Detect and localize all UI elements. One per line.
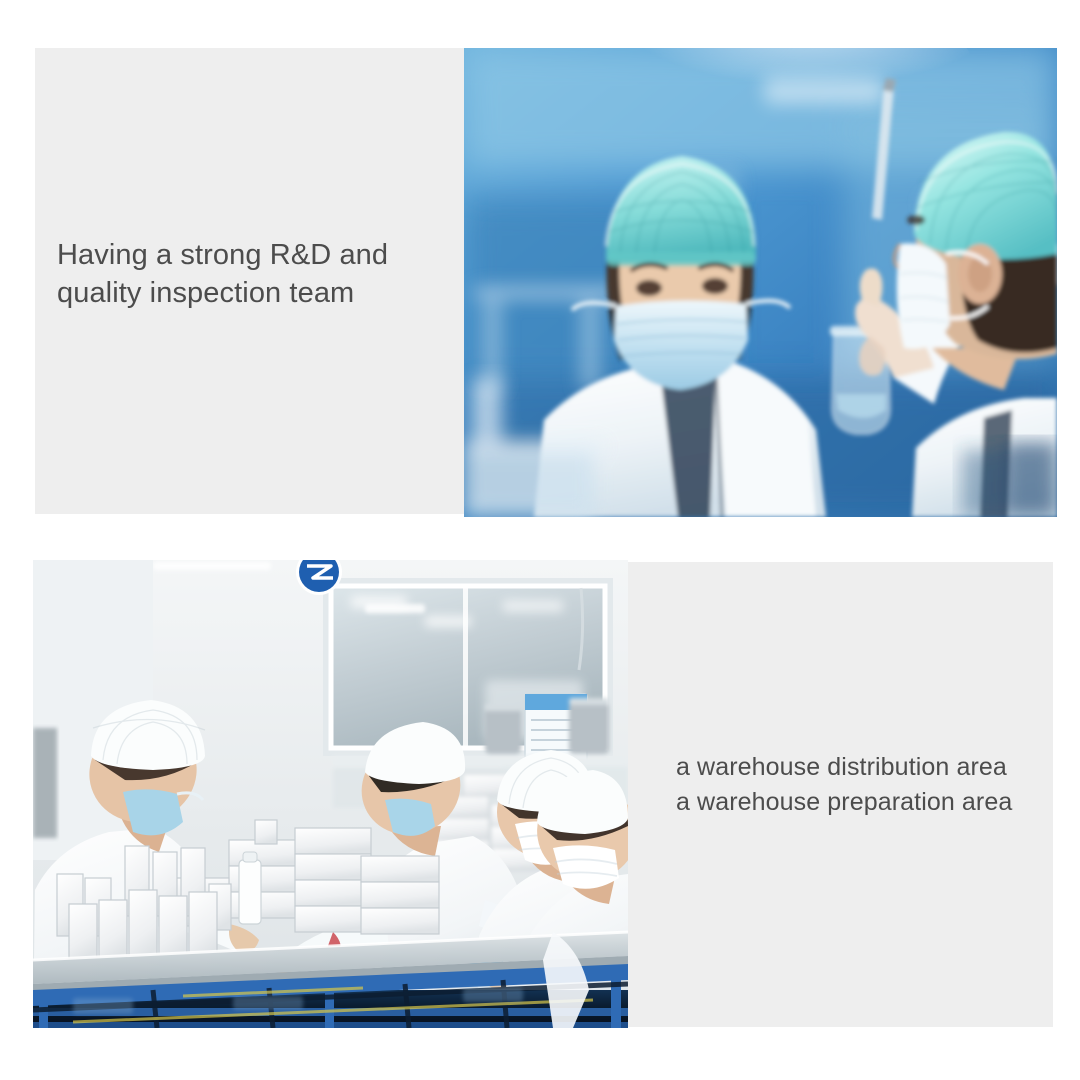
bottom-caption-panel: a warehouse distribution area a warehous…	[628, 562, 1053, 1027]
top-caption-panel: Having a strong R&D and quality inspecti…	[35, 48, 465, 514]
lab-team-photo	[464, 48, 1057, 517]
top-caption-text: Having a strong R&D and quality inspecti…	[57, 236, 457, 312]
banner-page: Having a strong R&D and quality inspecti…	[0, 0, 1080, 1080]
white-bottle	[239, 852, 261, 924]
top-section: Having a strong R&D and quality inspecti…	[35, 48, 1057, 517]
bottom-caption-text: a warehouse distribution area a warehous…	[676, 750, 1056, 820]
lab-team-illustration	[464, 48, 1057, 517]
warehouse-packing-photo	[33, 560, 628, 1028]
warehouse-illustration	[33, 560, 628, 1028]
bottom-section: a warehouse distribution area a warehous…	[33, 560, 1053, 1028]
